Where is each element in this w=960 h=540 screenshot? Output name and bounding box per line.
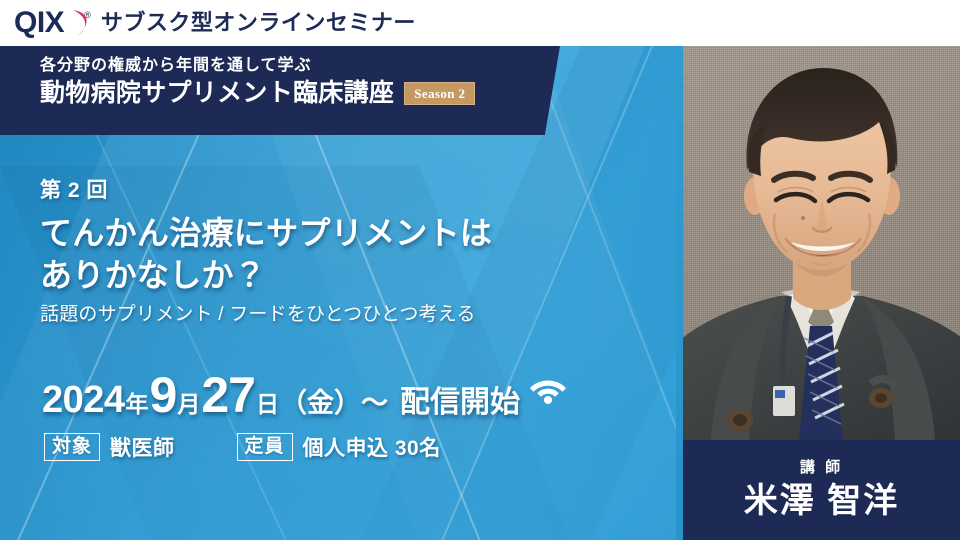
broadcast-dateline: 2024 年 9 月 27 日 （金） 〜 配信開始 (42, 366, 567, 424)
meta-chip-target: 対象 (44, 433, 100, 461)
subheadline: 話題のサプリメント / フードをひとつひとつ考える (40, 303, 660, 328)
meta-value-target: 獣医師 (110, 432, 175, 462)
series-banner: 各分野の権威から年間を通して学ぶ 動物病院サプリメント臨床講座 Season 2 (0, 46, 560, 135)
qix-logo[interactable]: QIX ® (14, 0, 91, 46)
qix-logo-text: QIX (14, 0, 64, 46)
portrait-illustration (683, 46, 960, 440)
meta-value-capacity: 個人申込 30名 (303, 432, 441, 462)
wifi-broadcast-icon (529, 374, 567, 409)
instructor-plate: 講 師 米澤 智洋 (683, 440, 960, 540)
date-month-unit: 月 (177, 385, 200, 419)
episode-number: 第 2 回 (40, 178, 660, 204)
photo-divider-strip (676, 46, 683, 540)
series-title-row: 動物病院サプリメント臨床講座 Season 2 (40, 78, 520, 109)
meta-group-capacity: 定員 個人申込 30名 (237, 432, 441, 462)
instructor-role: 講 師 (800, 460, 843, 475)
meta-chip-capacity: 定員 (237, 433, 293, 461)
instructor-name: 米澤 智洋 (744, 484, 899, 520)
registered-mark: ® (84, 0, 91, 46)
series-kicker: 各分野の権威から年間を通して学ぶ (40, 55, 520, 77)
topbar-title: サブスク型オンラインセミナー (101, 0, 416, 46)
main-copy: 第 2 回 てんかん治療にサプリメントは ありかなしか？ 話題のサプリメント /… (40, 178, 660, 327)
season-badge: Season 2 (404, 82, 475, 105)
date-day: 27 (201, 366, 255, 424)
seminar-banner: QIX ® サブスク型オンラインセミナー 各分野の権威から年間を通して学ぶ 動物… (0, 0, 960, 540)
date-tilde: 〜 (361, 381, 388, 420)
date-year: 2024 (42, 379, 125, 422)
series-banner-content: 各分野の権威から年間を通して学ぶ 動物病院サプリメント臨床講座 Season 2 (40, 55, 520, 109)
date-weekday: （金） (280, 381, 361, 420)
headline: てんかん治療にサプリメントは ありかなしか？ (40, 212, 660, 296)
date-year-unit: 年 (126, 385, 149, 419)
meta-group-target: 対象 獣医師 (44, 432, 175, 462)
broadcast-status: 配信開始 (400, 377, 520, 421)
meta-row: 対象 獣医師 定員 個人申込 30名 (44, 432, 441, 462)
series-title: 動物病院サプリメント臨床講座 (40, 78, 394, 109)
instructor-photo (683, 46, 960, 440)
date-day-unit: 日 (256, 385, 279, 419)
headline-line-1: てんかん治療にサプリメントは (40, 212, 660, 254)
date-month: 9 (150, 366, 177, 424)
top-bar: QIX ® サブスク型オンラインセミナー (0, 0, 960, 46)
headline-line-2: ありかなしか？ (40, 254, 660, 296)
